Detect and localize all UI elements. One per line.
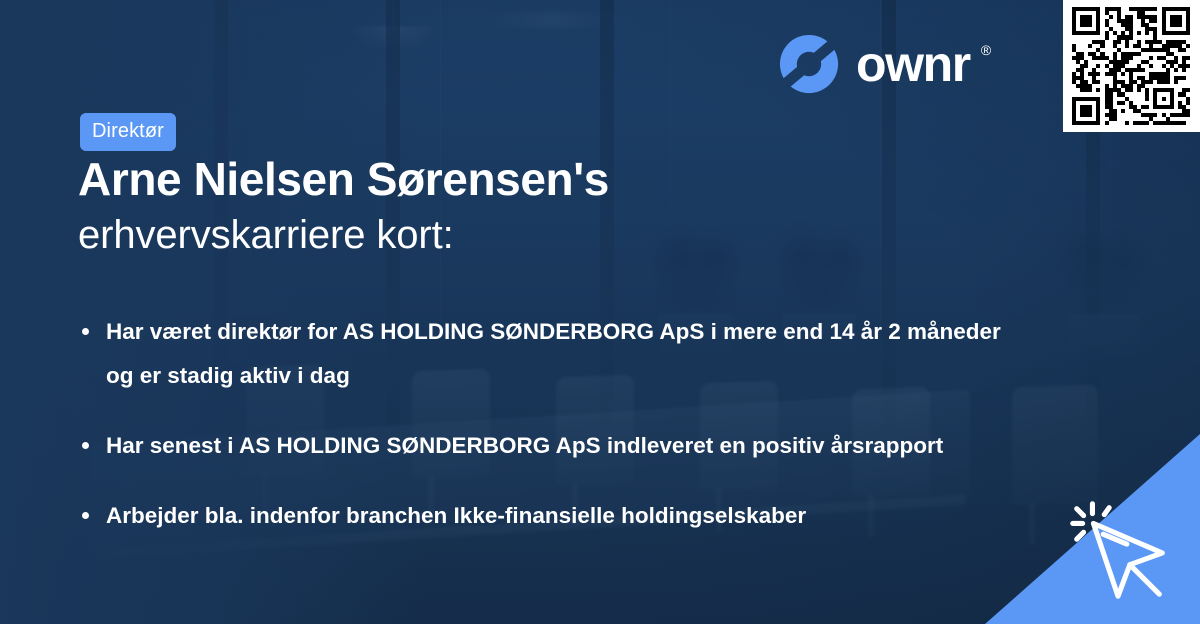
bullet-dot-icon <box>82 328 89 335</box>
list-item-text: Har senest i AS HOLDING SØNDERBORG ApS i… <box>106 433 943 458</box>
click-cursor-icon <box>1060 490 1178 608</box>
list-item: Har senest i AS HOLDING SØNDERBORG ApS i… <box>78 424 1008 468</box>
headline-line-1: Arne Nielsen Sørensen's <box>78 150 1038 208</box>
qr-code[interactable] <box>1063 0 1200 132</box>
ownr-wordmark: ownr® <box>856 39 990 89</box>
list-item-text: Arbejder bla. indenfor branchen Ikke-fin… <box>106 503 806 528</box>
qr-code-modules <box>1072 7 1190 125</box>
list-item-text: Har været direktør for AS HOLDING SØNDER… <box>106 319 1001 388</box>
ownr-circle-slash-icon <box>778 33 840 95</box>
headline-line-2: erhvervskarriere kort: <box>78 208 1038 262</box>
role-badge: Direktør <box>80 113 176 151</box>
ownr-wordmark-text: ownr <box>856 36 970 92</box>
career-summary-card: Direktør Arne Nielsen Sørensen's erhverv… <box>0 0 1200 624</box>
bullet-dot-icon <box>82 442 89 449</box>
career-highlights-list: Har været direktør for AS HOLDING SØNDER… <box>78 310 1008 538</box>
ownr-logo[interactable]: ownr® <box>778 33 990 95</box>
registered-trademark-icon: ® <box>981 43 990 57</box>
bullet-dot-icon <box>82 512 89 519</box>
list-item: Har været direktør for AS HOLDING SØNDER… <box>78 310 1008 398</box>
list-item: Arbejder bla. indenfor branchen Ikke-fin… <box>78 494 1008 538</box>
page-title: Arne Nielsen Sørensen's erhvervskarriere… <box>78 150 1038 262</box>
